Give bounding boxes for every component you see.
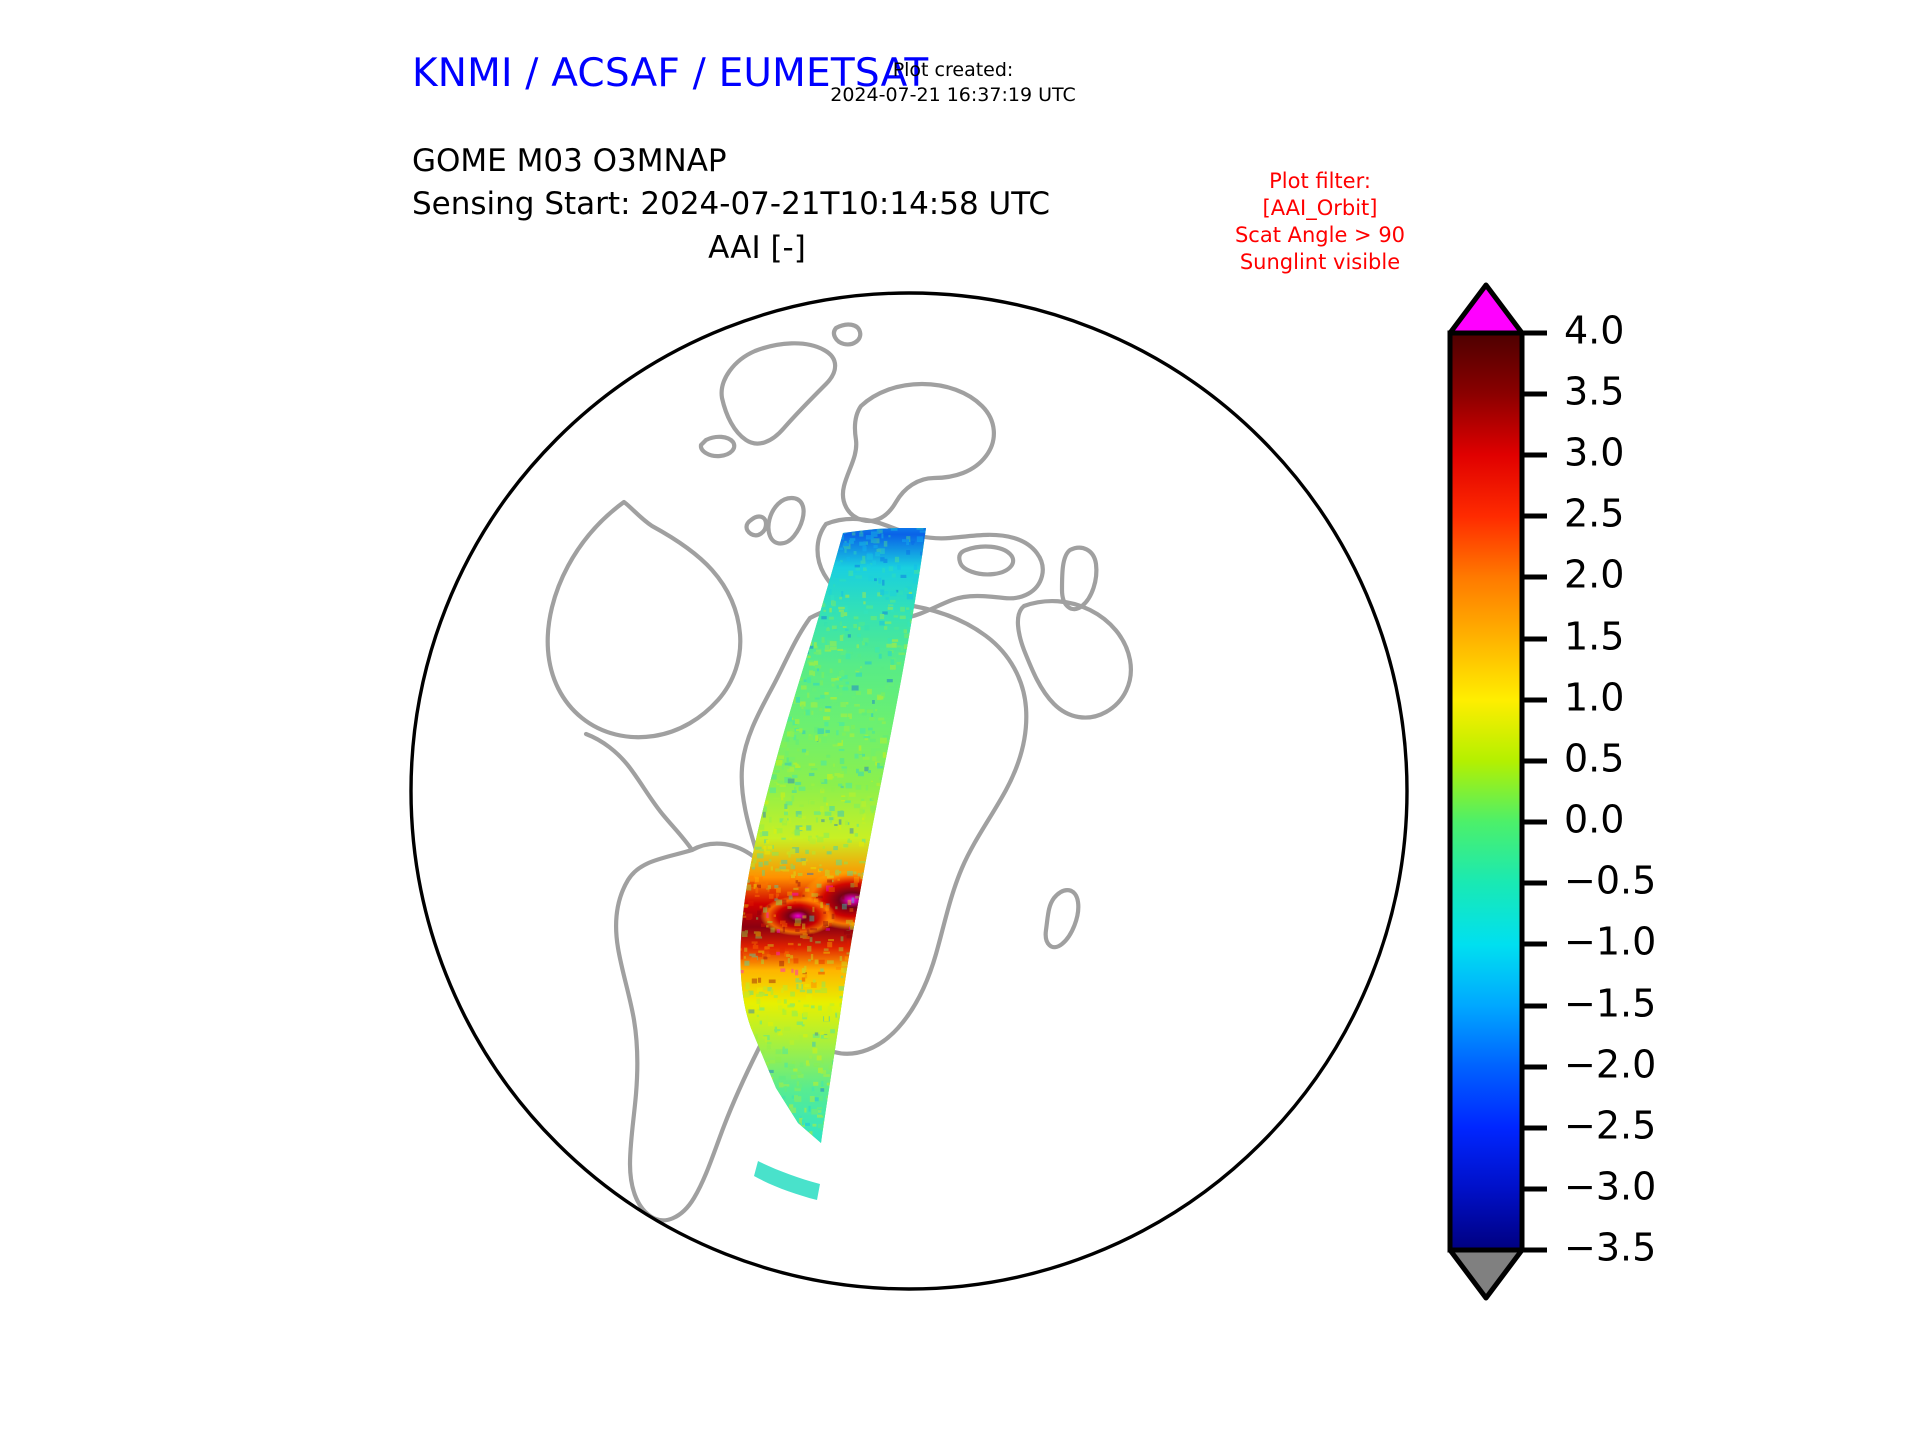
colorbar-tick-label: 4.0 (1564, 309, 1624, 353)
sensing-start-title: Sensing Start: 2024-07-21T10:14:58 UTC (412, 183, 1050, 226)
colorbar: 4.0 3.5 3.0 2.5 2.0 1.5 1.0 0.5 0.0 −0.5… (1440, 275, 1770, 1325)
colorbar-tick-label: −3.0 (1564, 1165, 1656, 1209)
globe-disc (411, 293, 1407, 1289)
colorbar-tick-label: −1.5 (1564, 982, 1656, 1026)
colorbar-tick-label: −0.5 (1564, 859, 1656, 903)
plot-canvas: KNMI / ACSAF / EUMETSAT Plot created: 20… (0, 0, 1920, 1440)
colorbar-tick-label: 0.5 (1564, 737, 1624, 781)
plot-created-block: Plot created: 2024-07-21 16:37:19 UTC (743, 58, 1163, 108)
colorbar-tick-label: 0.0 (1564, 798, 1624, 842)
colorbar-tick-label: 1.5 (1564, 615, 1624, 659)
plot-filter-block: Plot filter: [AAI_Orbit] Scat Angle > 90… (1180, 168, 1460, 276)
colorbar-under-arrow (1450, 1250, 1522, 1298)
colorbar-tick-label: 2.5 (1564, 492, 1624, 536)
variable-title: AAI [-] (412, 230, 1102, 266)
instrument-title: GOME M03 O3MNAP (412, 140, 1050, 183)
colorbar-tick-label: 3.0 (1564, 431, 1624, 475)
plot-created-label: Plot created: (743, 58, 1163, 83)
plot-filter-name: [AAI_Orbit] (1180, 195, 1460, 222)
plot-filter-scat-angle: Scat Angle > 90 (1180, 222, 1460, 249)
colorbar-tick-label: 3.5 (1564, 370, 1624, 414)
plot-filter-sunglint: Sunglint visible (1180, 249, 1460, 276)
colorbar-ticks (1522, 333, 1547, 1250)
colorbar-tick-label: −2.0 (1564, 1043, 1656, 1087)
colorbar-over-arrow (1450, 285, 1522, 333)
globe-map (406, 288, 1412, 1294)
colorbar-tick-label: 1.0 (1564, 676, 1624, 720)
colorbar-tick-label: −1.0 (1564, 920, 1656, 964)
colorbar-tick-labels: 4.0 3.5 3.0 2.5 2.0 1.5 1.0 0.5 0.0 −0.5… (1564, 309, 1656, 1270)
plot-filter-label: Plot filter: (1180, 168, 1460, 195)
title-block: GOME M03 O3MNAP Sensing Start: 2024-07-2… (412, 140, 1050, 226)
colorbar-tick-label: −3.5 (1564, 1226, 1656, 1270)
plot-created-value: 2024-07-21 16:37:19 UTC (743, 83, 1163, 108)
colorbar-tick-label: 2.0 (1564, 553, 1624, 597)
colorbar-tick-label: −2.5 (1564, 1104, 1656, 1148)
colorbar-gradient (1450, 333, 1522, 1250)
